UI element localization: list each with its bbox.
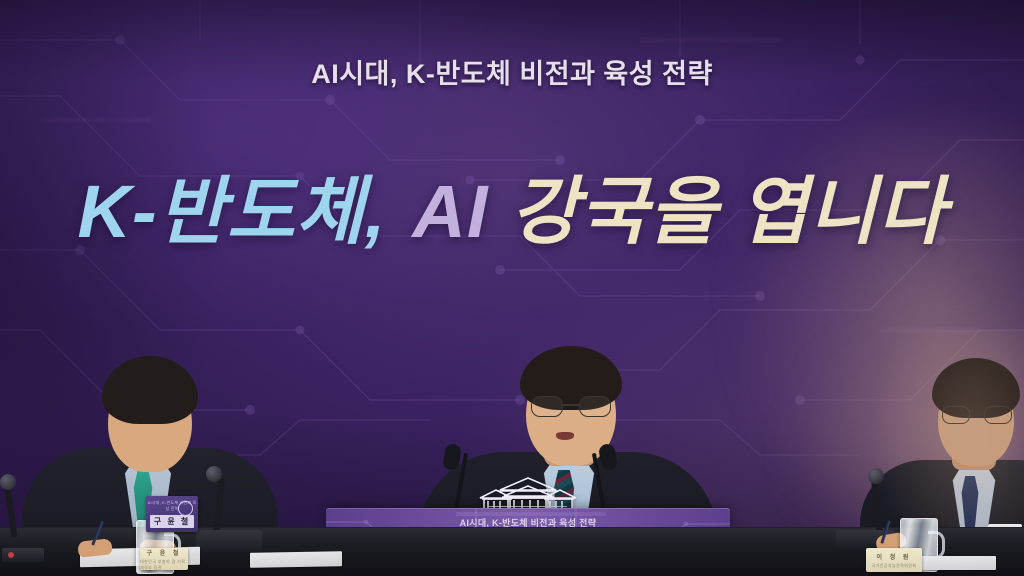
name-card-left: 구 윤 철 대한민국 부총리 겸 기획재정부 장관 — [140, 548, 188, 570]
table-microphone-head-2 — [0, 474, 16, 490]
paper-right — [920, 556, 996, 570]
glasses-icon — [942, 406, 1012, 423]
banner-headline: K-반도체,AI강국을 엽니다 — [0, 152, 1024, 259]
name-card-right: 이 정 원 국가인공지능전략위원회 — [866, 548, 922, 572]
name-card-left-name: 구 윤 철 — [147, 548, 182, 557]
table-microphone-head-1 — [206, 466, 222, 482]
name-card-right-name: 이 정 원 — [877, 552, 912, 561]
paper-stack — [250, 551, 342, 568]
name-card-right-title: 국가인공지능전략위원회 — [872, 563, 917, 569]
nameplate-badge-left: AI시대, K-반도체 비전과 육성 전략 구 윤 철 — [146, 496, 198, 532]
name-card-left-title: 대한민국 부총리 겸 기획재정부 장관 — [140, 559, 188, 571]
nameplate-badge-name: 구 윤 철 — [150, 515, 194, 528]
mouth — [556, 432, 574, 440]
press-conference-photo: AI시대, K-반도체 비전과 육성 전략 K-반도체,AI강국을 엽니다 — [0, 0, 1024, 576]
headline-segment-ai: AI — [412, 170, 488, 253]
indicator-light — [8, 552, 14, 558]
emblem-divider — [489, 506, 567, 507]
table-microphone-head-3 — [868, 468, 884, 484]
nameplate-seal-icon — [178, 501, 193, 516]
glasses-icon — [530, 396, 612, 416]
banner-subtitle: AI시대, K-반도체 비전과 육성 전략 — [0, 52, 1024, 91]
headline-segment-powerhouse: 강국을 엽니다 — [510, 170, 946, 253]
headline-segment-k-semiconductor: K-반도체, — [78, 170, 387, 253]
hair — [102, 356, 198, 424]
microphone-base-unit-1 — [196, 530, 262, 552]
